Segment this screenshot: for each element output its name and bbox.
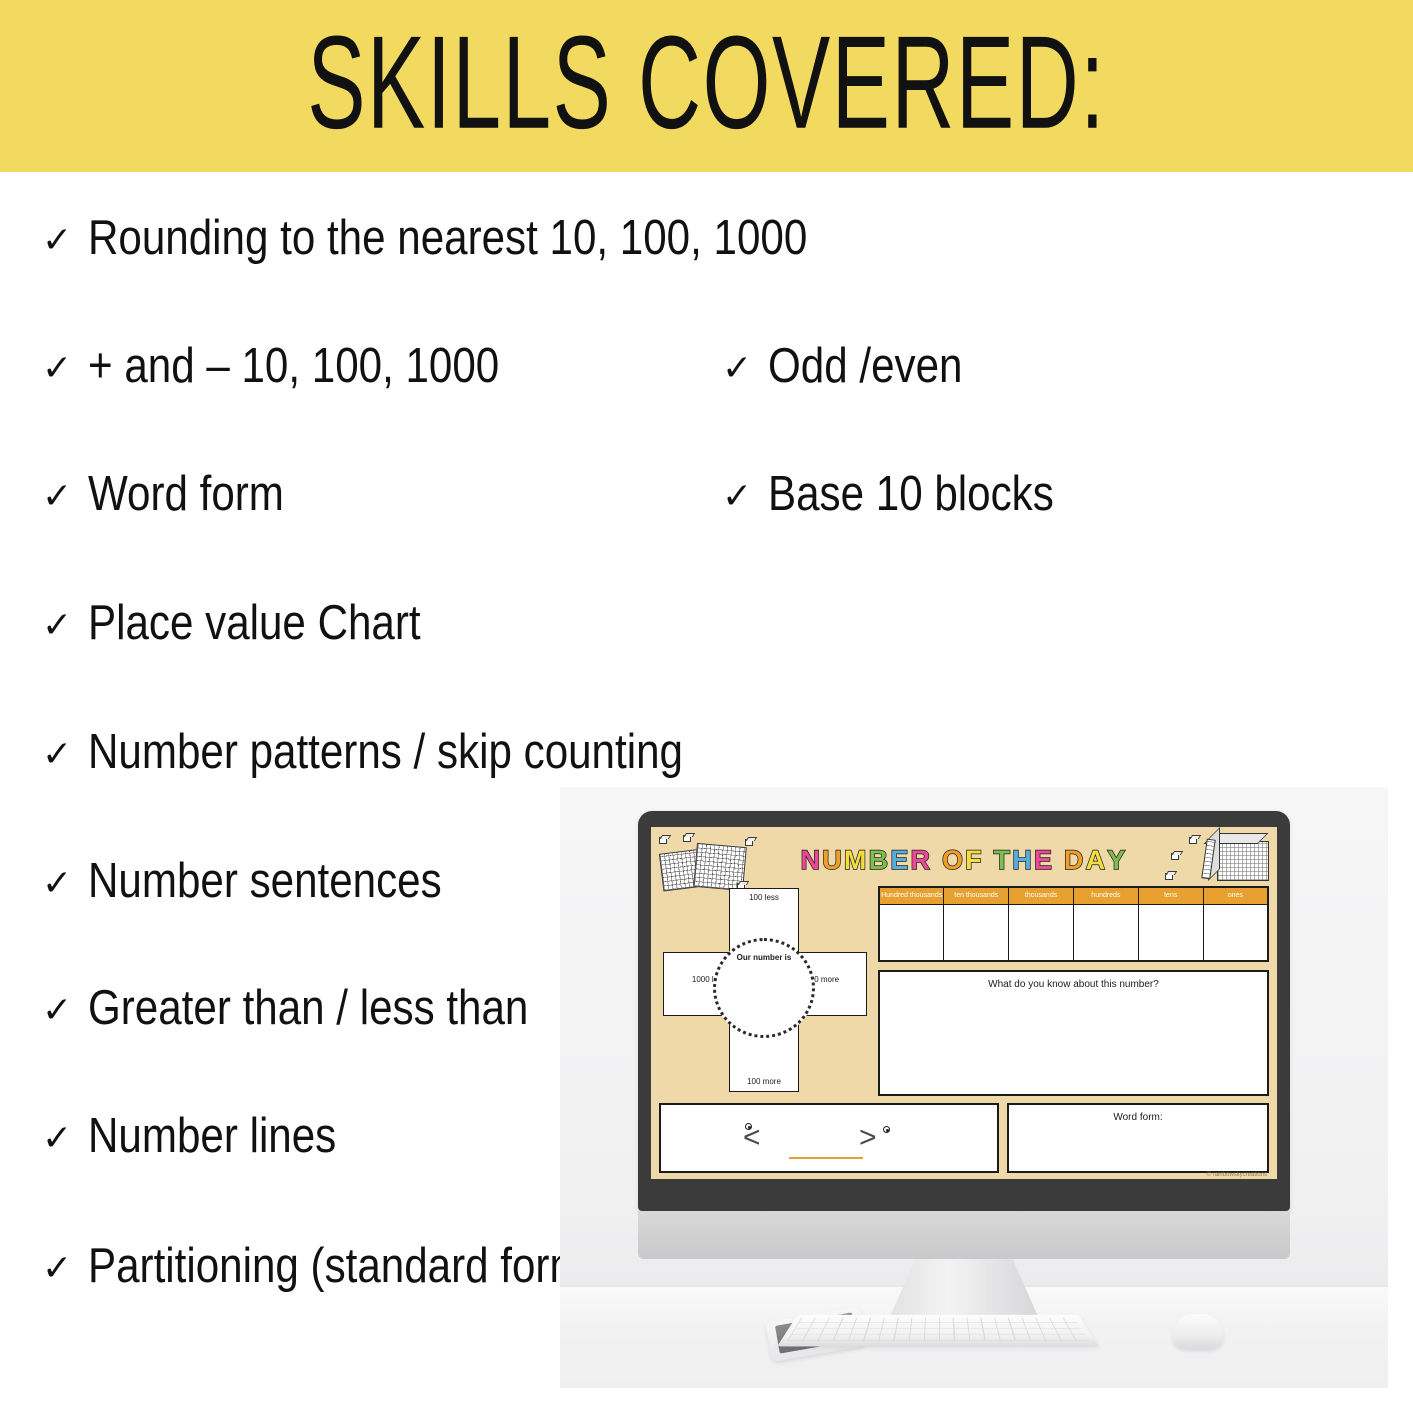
check-icon: ✓ [42,351,72,387]
title-letter: Y [1107,847,1127,874]
pv-cell[interactable] [1138,905,1203,961]
word-form-box[interactable]: Word form: [1007,1103,1269,1173]
skill-item: ✓ Number patterns / skip counting [42,728,780,777]
skill-label: Number patterns / skip counting [88,728,683,777]
number-cross-panel: 100 less 1000 less 1000 more 100 more [659,886,871,1096]
check-icon: ✓ [722,351,752,387]
skill-item: ✓ Word form [42,470,316,519]
page-root: SKILLS COVERED: ✓ Rounding to the neares… [0,0,1413,1413]
check-icon: ✓ [42,223,72,259]
number-cross: 100 less 1000 less 1000 more 100 more [659,886,871,1096]
pv-header-ones: ones [1203,887,1268,905]
alligator-eye-icon [883,1126,890,1133]
skill-label: Greater than / less than [88,984,528,1033]
skill-label: Rounding to the nearest 10, 100, 1000 [88,214,807,263]
check-icon: ✓ [42,479,72,515]
skill-item: ✓ + and – 10, 100, 1000 [42,342,566,391]
worksheet-title-row: NUMBER OF THE DAY [659,834,1269,886]
alligator-eye-icon [745,1123,752,1130]
mouse [1172,1314,1224,1350]
header-band: SKILLS COVERED: [0,0,1413,172]
title-letter: N [801,847,823,874]
cross-label: 100 more [730,1077,798,1086]
pv-cell[interactable] [879,905,944,961]
check-icon: ✓ [42,1251,72,1287]
skill-item: ✓ Base 10 blocks [722,470,1100,519]
title-letter: E [890,847,910,874]
skill-item: ✓ Number sentences [42,857,499,906]
skill-item: ✓ Place value Chart [42,599,475,648]
our-number-label: Our number is [716,953,812,962]
pv-header-hundred-thousands: Hundred thousands [879,887,944,905]
title-letter: E [1034,847,1054,874]
what-do-you-know-box[interactable]: What do you know about this number? [878,970,1269,1096]
keyboard [777,1315,1099,1347]
pv-header-hundreds: hundreds [1073,887,1138,905]
title-letter: U [822,847,844,874]
title-letter: R [911,847,933,874]
skill-label: Number lines [88,1112,336,1161]
pv-cell[interactable] [944,905,1009,961]
product-mockup-photo: NUMBER OF THE DAY 100 less 1000 less [560,787,1388,1388]
title-letter [932,847,942,874]
title-letter: M [844,847,869,874]
skill-label: Base 10 blocks [768,470,1054,519]
monitor-screen: NUMBER OF THE DAY 100 less 1000 less [651,827,1277,1179]
title-letter: T [994,847,1013,874]
place-value-chart: Hundred thousands ten thousands thousand… [878,886,1269,962]
worksheet-body: 100 less 1000 less 1000 more 100 more [659,886,1269,1096]
title-letter: H [1012,847,1034,874]
skill-item: ✓ Greater than / less than [42,984,600,1033]
check-icon: ✓ [42,737,72,773]
title-letter: O [942,847,965,874]
pv-header-tens: tens [1138,887,1203,905]
worksheet-bottom-row: < > Word form: [659,1103,1269,1173]
check-icon: ✓ [42,866,72,902]
worksheet-right-column: Hundred thousands ten thousands thousand… [878,886,1269,1096]
compare-box[interactable]: < > [659,1103,999,1173]
skill-item: ✓ Odd /even [722,342,994,391]
word-form-label: Word form: [1113,1112,1162,1171]
title-letter: D [1064,847,1086,874]
cross-label: 100 less [749,893,779,902]
pv-cell[interactable] [1073,905,1138,961]
title-letter [984,847,994,874]
title-letter: A [1086,847,1108,874]
monitor-chin [638,1211,1290,1259]
check-icon: ✓ [42,608,72,644]
skill-label: Odd /even [768,342,962,391]
title-letter [1054,847,1064,874]
answer-blank-line [789,1157,863,1159]
greater-than-symbol: > [859,1123,877,1153]
title-letter: F [965,847,984,874]
copyright-notice: © rainbowskycreations [1207,1172,1267,1178]
pv-header-thousands: thousands [1009,887,1074,905]
what-do-you-know-label: What do you know about this number? [988,979,1159,1094]
skill-label: Word form [88,470,284,519]
skill-label: Number sentences [88,857,442,906]
check-icon: ✓ [42,993,72,1029]
skill-label: Place value Chart [88,599,421,648]
monitor-frame: NUMBER OF THE DAY 100 less 1000 less [638,811,1290,1211]
pv-cell[interactable] [1203,905,1268,961]
worksheet-title: NUMBER OF THE DAY [801,847,1128,874]
skill-item: ✓ Rounding to the nearest 10, 100, 1000 [42,214,925,263]
skill-label: Partitioning (standard form) [88,1242,599,1291]
page-title: SKILLS COVERED: [307,17,1106,149]
our-number-circle[interactable]: Our number is [713,938,815,1038]
pv-cell[interactable] [1009,905,1074,961]
pv-header-ten-thousands: ten thousands [944,887,1009,905]
place-value-entry-row [879,905,1268,961]
skill-item: ✓ Number lines [42,1112,377,1161]
skill-label: + and – 10, 100, 1000 [88,342,499,391]
check-icon: ✓ [42,1121,72,1157]
check-icon: ✓ [722,479,752,515]
place-value-header-row: Hundred thousands ten thousands thousand… [879,887,1268,905]
title-letter: B [869,847,891,874]
keyboard-keys [787,1318,1089,1341]
